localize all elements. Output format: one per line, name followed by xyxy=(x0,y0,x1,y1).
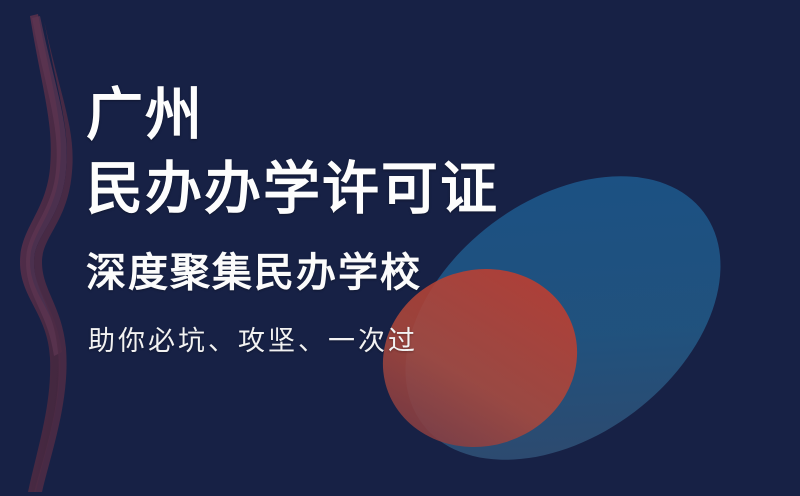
page-title-line-1: 广州 xyxy=(86,86,499,143)
text-layer: 广州 民办办学许可证 深度聚集民办学校 助你必坑、攻坚、一次过 xyxy=(0,0,800,496)
promo-banner: 广州 民办办学许可证 深度聚集民办学校 助你必坑、攻坚、一次过 xyxy=(0,0,800,496)
headline-block: 广州 民办办学许可证 xyxy=(86,86,499,217)
subtitle-primary: 深度聚集民办学校 xyxy=(86,252,422,294)
page-title-line-2: 民办办学许可证 xyxy=(86,160,499,217)
subtitle-secondary: 助你必坑、攻坚、一次过 xyxy=(88,327,418,357)
